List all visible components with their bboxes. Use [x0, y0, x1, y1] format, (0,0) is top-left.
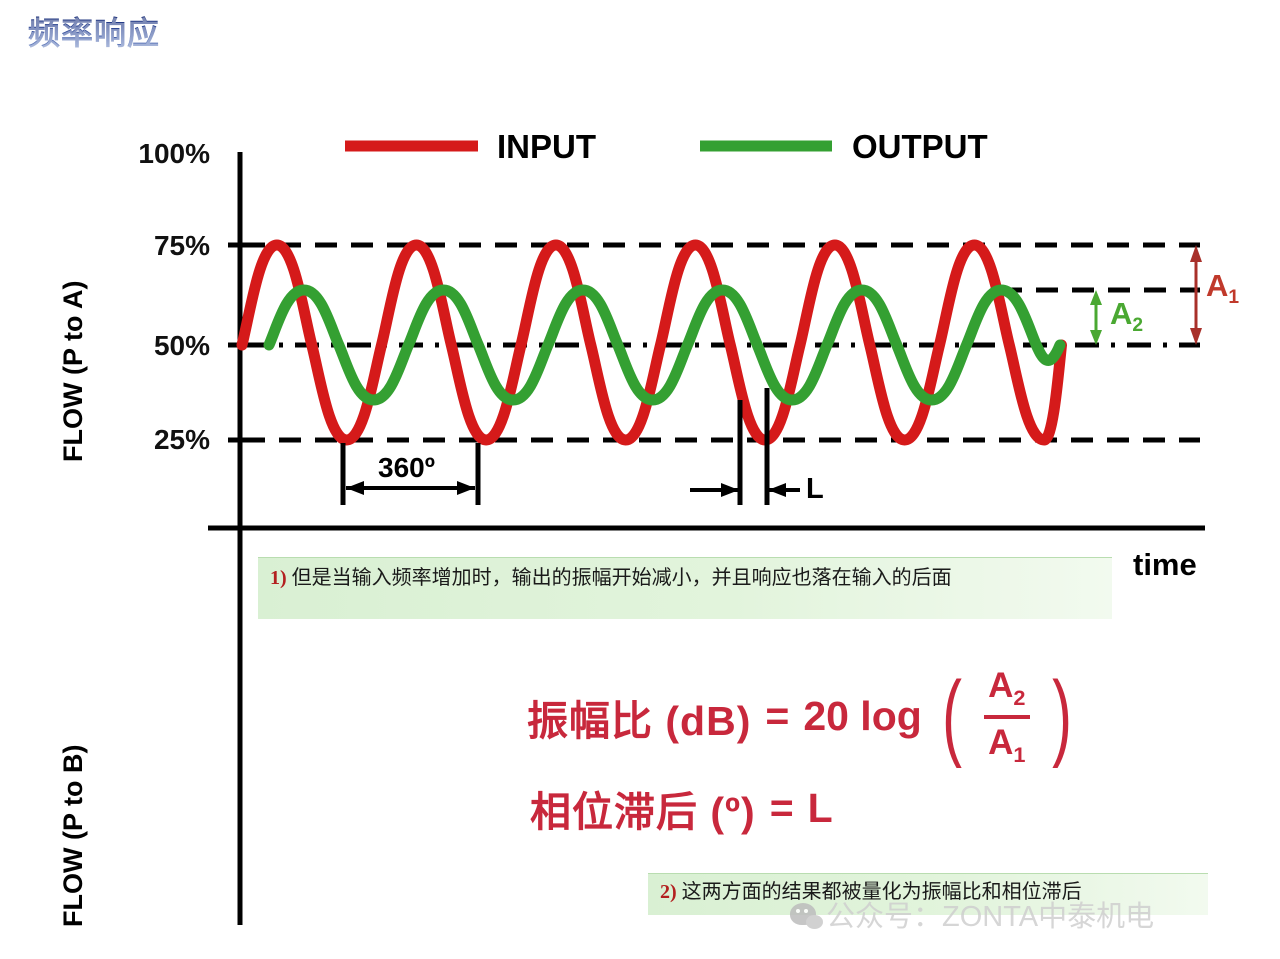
formula-phase-lhs: 相位滞后 (º)	[530, 778, 756, 838]
fraction-denominator: A1	[986, 722, 1027, 769]
callout-1-text: 但是当输入频率增加时，输出的振幅开始减小，并且响应也落在输入的后面	[292, 567, 952, 589]
paren-open: (	[942, 679, 962, 754]
lag-arrow-head-right	[768, 483, 786, 497]
callout-2-number: 2)	[660, 881, 677, 903]
lag-arrow-head-left	[721, 483, 739, 497]
callout-2: 2) 这两方面的结果都被量化为振幅比和相位滞后	[648, 873, 1208, 915]
paren-close: )	[1052, 679, 1072, 754]
amplitude-output-label: A2	[1110, 296, 1143, 337]
formula-amplitude-coef: 20 log	[803, 693, 921, 740]
callout-2-text: 这两方面的结果都被量化为振幅比和相位滞后	[682, 881, 1082, 903]
period-arrow-head-left	[346, 481, 364, 495]
slide-frequency-response: 频率响应 100% 75% 50% 25% FLOW (P to A) FLOW…	[0, 0, 1280, 959]
callout-1: 1) 但是当输入频率增加时，输出的振幅开始减小，并且响应也落在输入的后面	[258, 557, 1112, 619]
formula-amplitude-lhs: 振幅比 (dB)	[527, 687, 751, 747]
a1-arrow-head-top	[1190, 245, 1202, 262]
period-arrow-head-right	[457, 481, 475, 495]
formula-phase-equals: =	[770, 785, 794, 832]
a1-arrow-head-bottom	[1190, 328, 1202, 345]
formula-phase-rhs: L	[808, 785, 833, 832]
formula-amplitude-equals: =	[765, 693, 789, 740]
callout-1-number: 1)	[270, 567, 287, 589]
fraction-a2-a1: A2 A1	[984, 665, 1030, 768]
legend-label-input: INPUT	[497, 128, 596, 166]
legend-label-output: OUTPUT	[852, 128, 988, 166]
fraction-bar	[984, 715, 1030, 719]
lag-label: L	[806, 473, 824, 506]
formula-phase-lag: 相位滞后 (º) = L	[530, 778, 833, 838]
fraction-numerator: A2	[986, 665, 1027, 712]
period-label: 360º	[378, 452, 435, 484]
formula-amplitude-ratio: 振幅比 (dB) = 20 log ( A2 A1 )	[527, 665, 1078, 768]
amplitude-input-label: A1	[1206, 268, 1239, 309]
